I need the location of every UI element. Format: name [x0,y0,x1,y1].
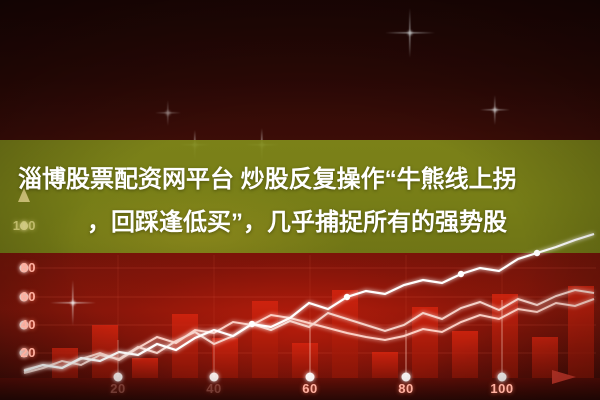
x-tick-label-100: 100 [482,381,522,396]
bar-series [52,286,594,378]
x-tick-label-60: 60 [290,381,330,396]
y-tick-label-60: 60 [2,289,36,304]
y-tick-label-80: 80 [2,260,36,275]
banner-image: 100 80 60 40 20 20 40 60 80 100 淄博股票配资网平… [0,0,600,400]
headline-line-1: 淄博股票配资网平台 炒股反复操作“牛熊线上拐 [0,158,600,201]
y-tick-label-20: 20 [2,345,36,360]
x-tick-label-80: 80 [386,381,426,396]
headline: 淄博股票配资网平台 炒股反复操作“牛熊线上拐 ，回踩逢低买”，几乎捕捉所有的强势… [0,158,600,244]
y-tick-label-40: 40 [2,317,36,332]
headline-line-2: ，回踩逢低买”，几乎捕捉所有的强势股 [0,201,600,244]
x-tick-label-40: 40 [194,381,234,396]
x-tick-label-20: 20 [98,381,138,396]
